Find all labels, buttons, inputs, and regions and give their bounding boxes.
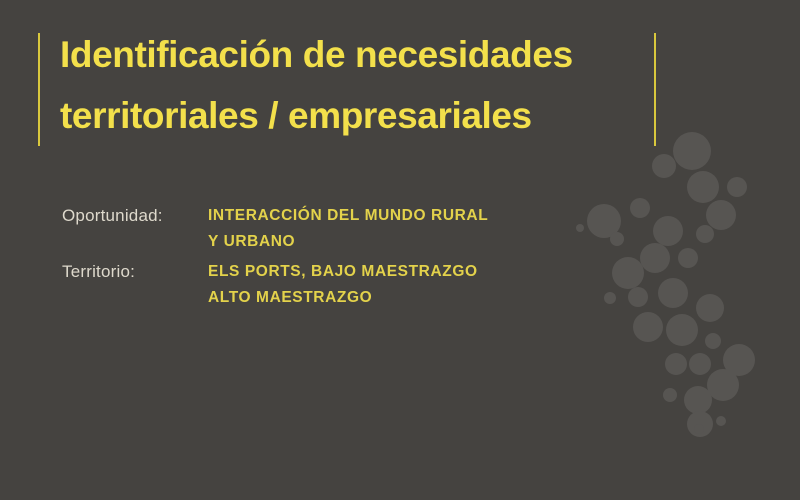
decor-dot — [666, 314, 698, 346]
decor-dot — [610, 232, 624, 246]
decor-dot — [612, 257, 644, 289]
decor-dot — [696, 294, 724, 322]
decor-dot — [604, 292, 616, 304]
decor-dot — [652, 154, 676, 178]
footer-logos-bar: FINANCIA: ORGANIZA: — [0, 348, 800, 468]
decor-dot — [653, 216, 683, 246]
title-block: Identificación de necesidades territoria… — [38, 30, 668, 148]
decor-dot — [658, 278, 688, 308]
title-left-rule — [38, 33, 40, 146]
decor-dot — [687, 171, 719, 203]
decor-dot — [673, 132, 711, 170]
page-title: Identificación de necesidades territoria… — [60, 24, 660, 146]
decor-dot — [587, 204, 621, 238]
territorio-label: Territorio: — [62, 259, 202, 285]
decor-dot — [706, 200, 736, 230]
territorio-value: ELS PORTS, BAJO MAESTRAZGO ALTO MAESTRAZ… — [208, 259, 582, 311]
oportunidad-value: INTERACCIÓN DEL MUNDO RURAL Y URBANO — [208, 203, 582, 255]
decor-dot — [640, 243, 670, 273]
decor-dot — [727, 177, 747, 197]
slide-canvas: Identificación de necesidades territoria… — [0, 0, 800, 500]
decor-dot — [633, 312, 663, 342]
info-row-oportunidad: Oportunidad: INTERACCIÓN DEL MUNDO RURAL… — [62, 203, 582, 255]
info-block: Oportunidad: INTERACCIÓN DEL MUNDO RURAL… — [62, 203, 582, 311]
decor-dot — [678, 248, 698, 268]
decor-dot — [630, 198, 650, 218]
decor-dot — [696, 225, 714, 243]
info-row-territorio: Territorio: ELS PORTS, BAJO MAESTRAZGO A… — [62, 259, 582, 311]
decor-dot — [705, 333, 721, 349]
oportunidad-label: Oportunidad: — [62, 203, 202, 229]
decor-dot — [628, 287, 648, 307]
